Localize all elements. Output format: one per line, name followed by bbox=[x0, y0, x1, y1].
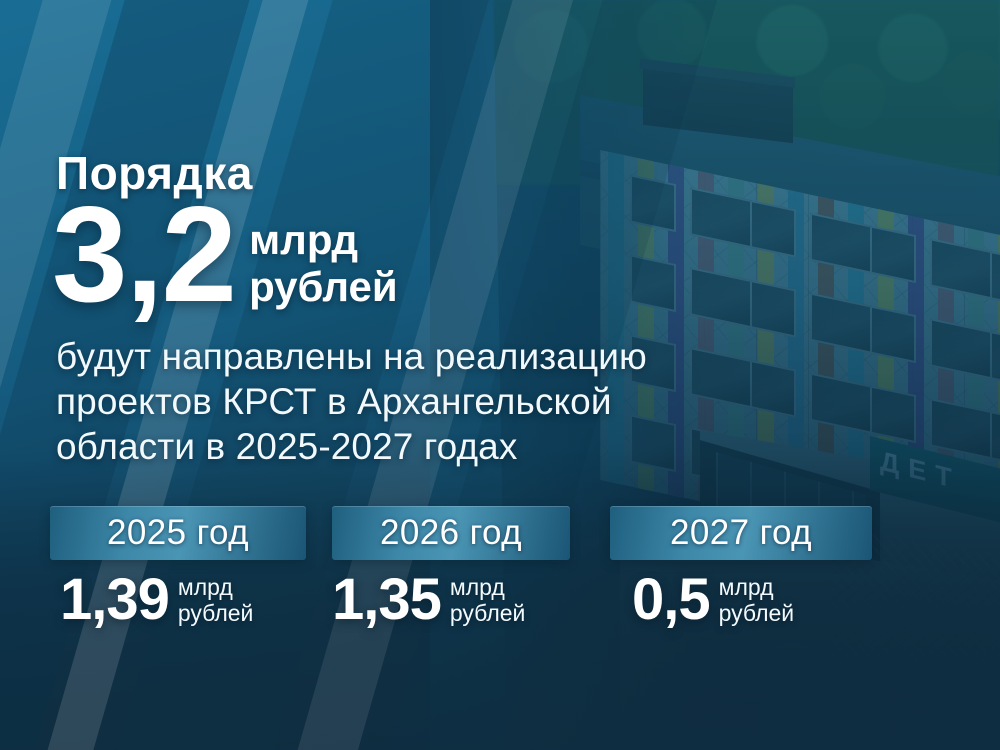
year-pill-label-2025: 2025 год bbox=[107, 513, 249, 553]
year-unit-line1-2025: млрд bbox=[178, 574, 254, 600]
year-amount-2027: 0,5 bbox=[632, 572, 710, 627]
lede-line-2: проектов КРСТ в Архангельской bbox=[56, 379, 756, 424]
year-unit-line2-2026: рублей bbox=[450, 600, 526, 626]
poster-content: Порядка 3,2 млрд рублей будут направлены… bbox=[0, 0, 1000, 750]
year-unit-2025: млрд рублей bbox=[178, 574, 254, 626]
headline-unit-line2: рублей bbox=[249, 263, 398, 310]
year-unit-line2-2027: рублей bbox=[719, 600, 795, 626]
year-amount-2025: 1,39 bbox=[60, 572, 169, 627]
year-block-2025: 2025 год 1,39 млрд рублей bbox=[50, 506, 306, 560]
headline-amount: 3,2 bbox=[52, 196, 235, 313]
year-pill-label-2027: 2027 год bbox=[670, 513, 812, 553]
year-pill-label-2026: 2026 год bbox=[380, 513, 522, 553]
year-unit-line2-2025: рублей bbox=[178, 600, 254, 626]
headline-amount-row: 3,2 млрд рублей bbox=[52, 196, 398, 313]
year-amount-2026: 1,35 bbox=[332, 572, 441, 627]
headline-amount-unit: млрд рублей bbox=[249, 216, 398, 310]
year-value-2027: 0,5 млрд рублей bbox=[632, 572, 794, 627]
lede-line-1: будут направлены на реализацию bbox=[56, 334, 756, 379]
year-pill-2025: 2025 год bbox=[50, 506, 306, 560]
year-pill-2027: 2027 год bbox=[610, 506, 872, 560]
year-unit-2027: млрд рублей bbox=[719, 574, 795, 626]
year-pill-2026: 2026 год bbox=[332, 506, 570, 560]
year-unit-2026: млрд рублей bbox=[450, 574, 526, 626]
year-value-2026: 1,35 млрд рублей bbox=[332, 572, 525, 627]
year-unit-line1-2026: млрд bbox=[450, 574, 526, 600]
year-breakdown: 2025 год 1,39 млрд рублей 2026 год 1,35 bbox=[0, 506, 1000, 666]
year-block-2027: 2027 год 0,5 млрд рублей bbox=[610, 506, 872, 560]
year-block-2026: 2026 год 1,35 млрд рублей bbox=[332, 506, 570, 560]
year-value-2025: 1,39 млрд рублей bbox=[60, 572, 253, 627]
infographic-poster: ДЕТ Порядка 3,2 млрд рублей будут направ… bbox=[0, 0, 1000, 750]
year-unit-line1-2027: млрд bbox=[719, 574, 795, 600]
lede-paragraph: будут направлены на реализацию проектов … bbox=[56, 334, 756, 469]
lede-line-3: области в 2025-2027 годах bbox=[56, 424, 756, 469]
headline-unit-line1: млрд bbox=[249, 216, 398, 263]
